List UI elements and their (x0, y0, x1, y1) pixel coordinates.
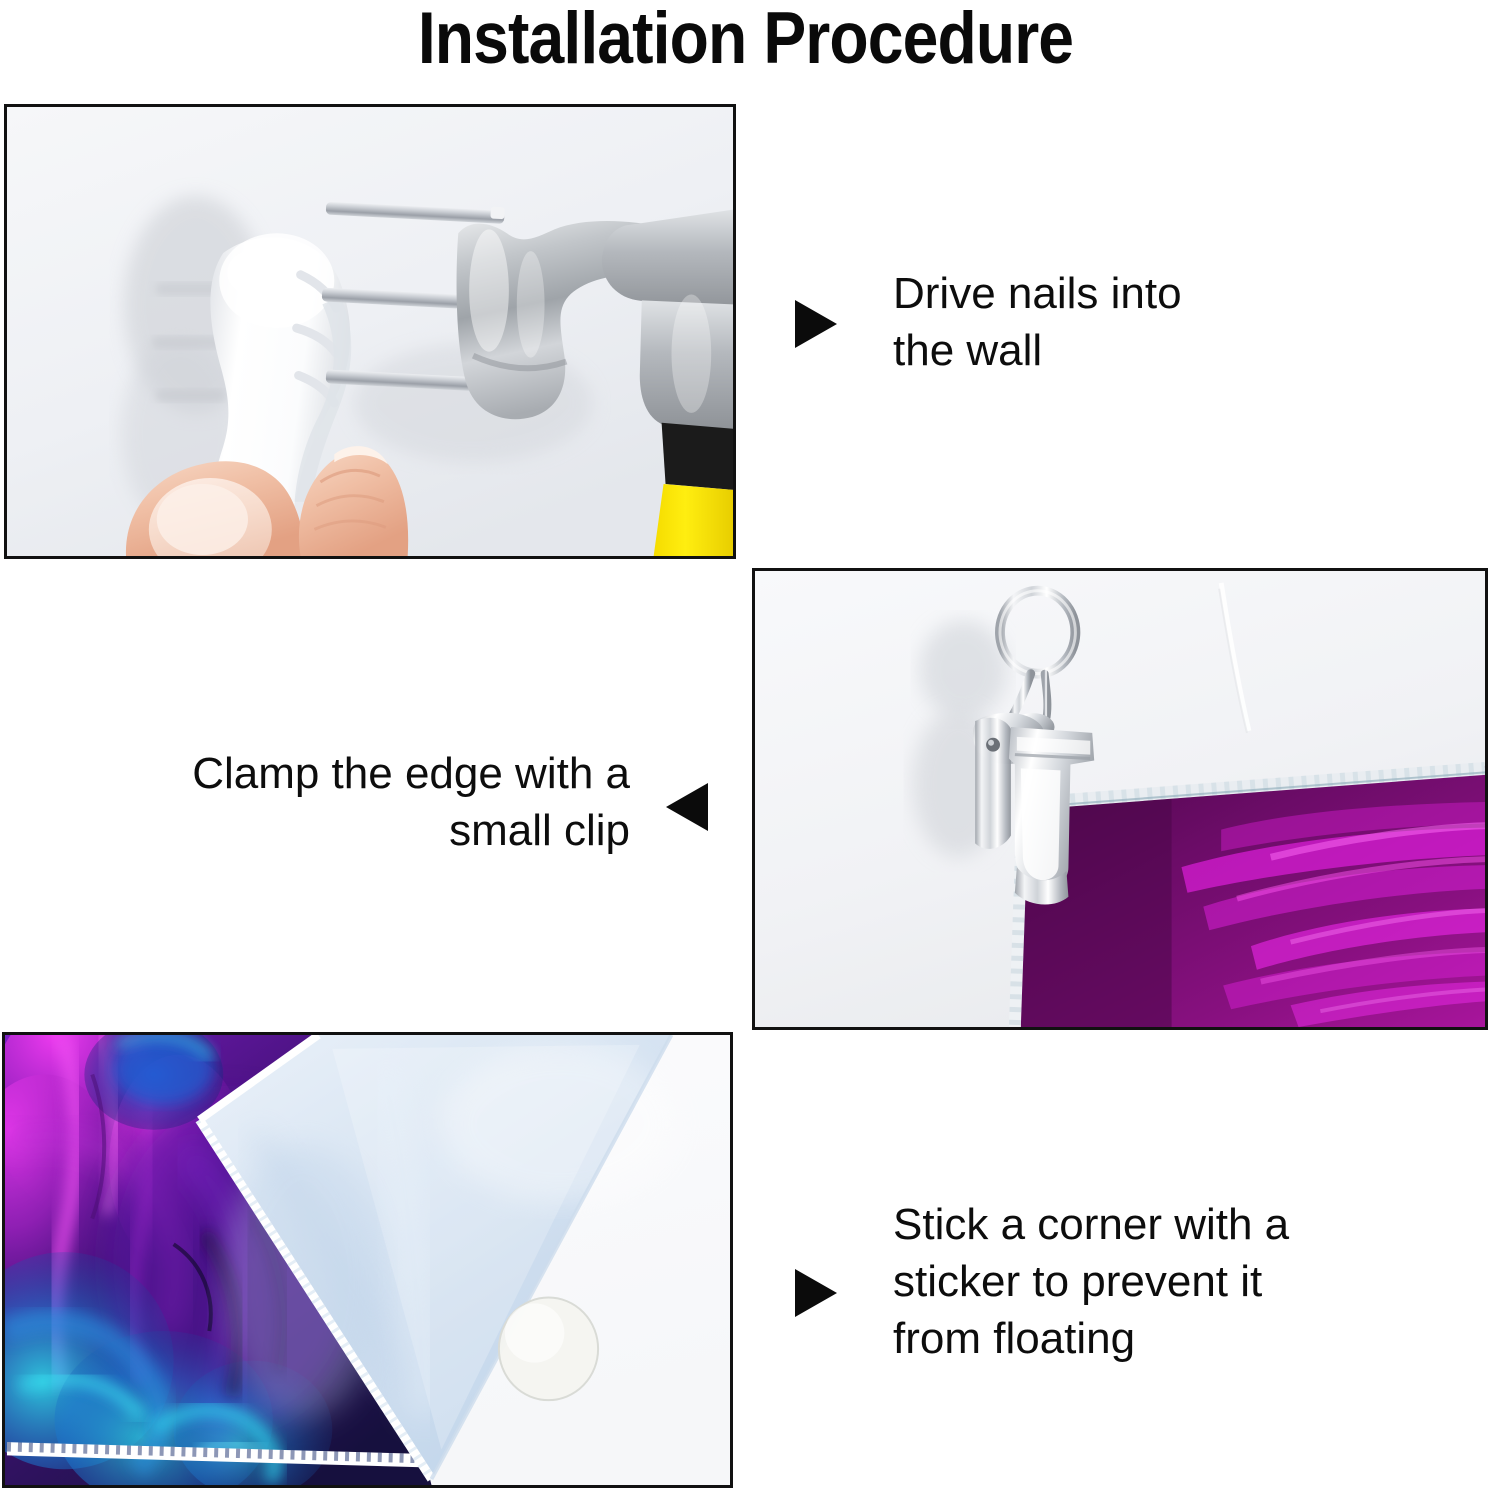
page-title: Installation Procedure (89, 0, 1401, 82)
step-1-caption: Drive nails into the wall (893, 265, 1293, 379)
clip-holding-banner-corner-photo (755, 571, 1485, 1027)
step-1-image (4, 104, 736, 559)
arrow-right-icon (795, 1269, 837, 1317)
hammer-collar (662, 423, 733, 490)
installation-procedure-infographic: Installation Procedure (0, 0, 1491, 1500)
step-3-caption: Stick a corner with a sticker to prevent… (893, 1196, 1363, 1368)
step-2-image (752, 568, 1488, 1030)
folded-corner-with-sticker-photo (5, 1035, 730, 1485)
step-2-caption: Clamp the edge with a small clip (70, 745, 630, 859)
hammer-and-wall-hook-photo (7, 107, 733, 556)
step-3-image (2, 1032, 733, 1488)
purple-banner-fabric (1021, 766, 1485, 1027)
arrow-left-icon (666, 783, 708, 831)
adhesive-sticker (499, 1298, 598, 1401)
arrow-right-icon (795, 300, 837, 348)
hammer-handle (654, 484, 733, 556)
